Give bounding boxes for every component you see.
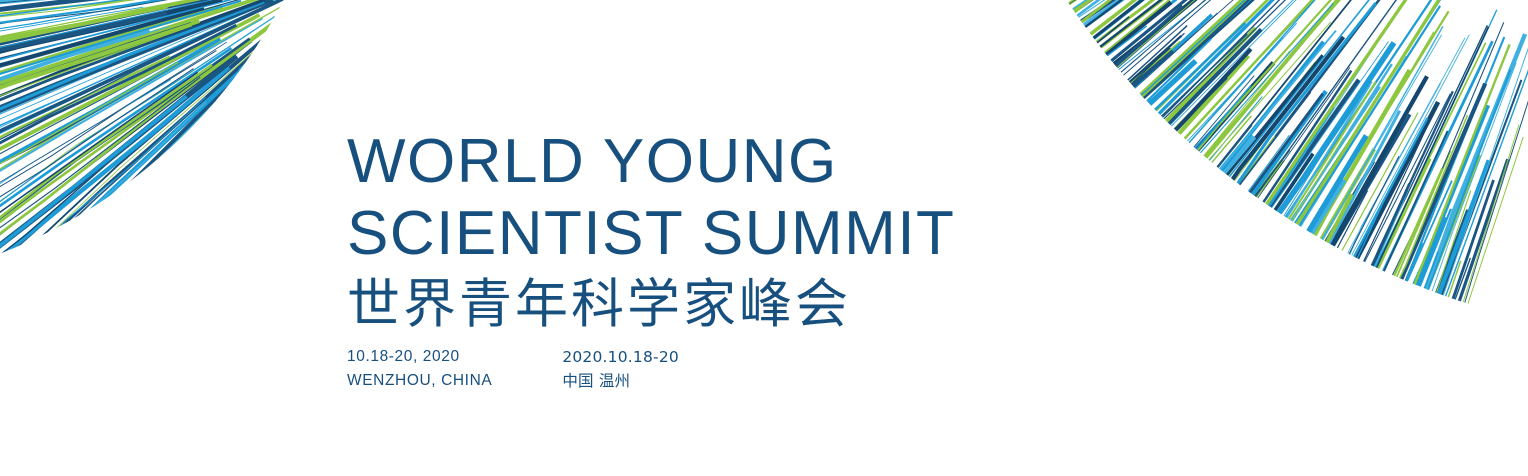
event-date-en: 10.18-20, 2020 xyxy=(347,345,492,369)
meta-english: 10.18-20, 2020 WENZHOU, CHINA xyxy=(347,345,492,393)
event-place-en: WENZHOU, CHINA xyxy=(347,369,492,393)
event-meta: 10.18-20, 2020 WENZHOU, CHINA 2020.10.18… xyxy=(347,345,679,393)
event-date-cn: 2020.10.18-20 xyxy=(562,345,679,369)
event-banner: WORLD YOUNG SCIENTIST SUMMIT 世界青年科学家峰会 1… xyxy=(0,0,1528,476)
event-place-cn: 中国 温州 xyxy=(562,369,679,393)
page-title-line-1: WORLD YOUNG xyxy=(347,126,967,198)
meta-chinese: 2020.10.18-20 中国 温州 xyxy=(562,345,679,393)
page-title-chinese: 世界青年科学家峰会 xyxy=(347,274,967,336)
banner-text-block: WORLD YOUNG SCIENTIST SUMMIT 世界青年科学家峰会 xyxy=(347,126,967,336)
left-fan-lines xyxy=(0,0,339,476)
page-title-line-2: SCIENTIST SUMMIT xyxy=(347,198,967,270)
